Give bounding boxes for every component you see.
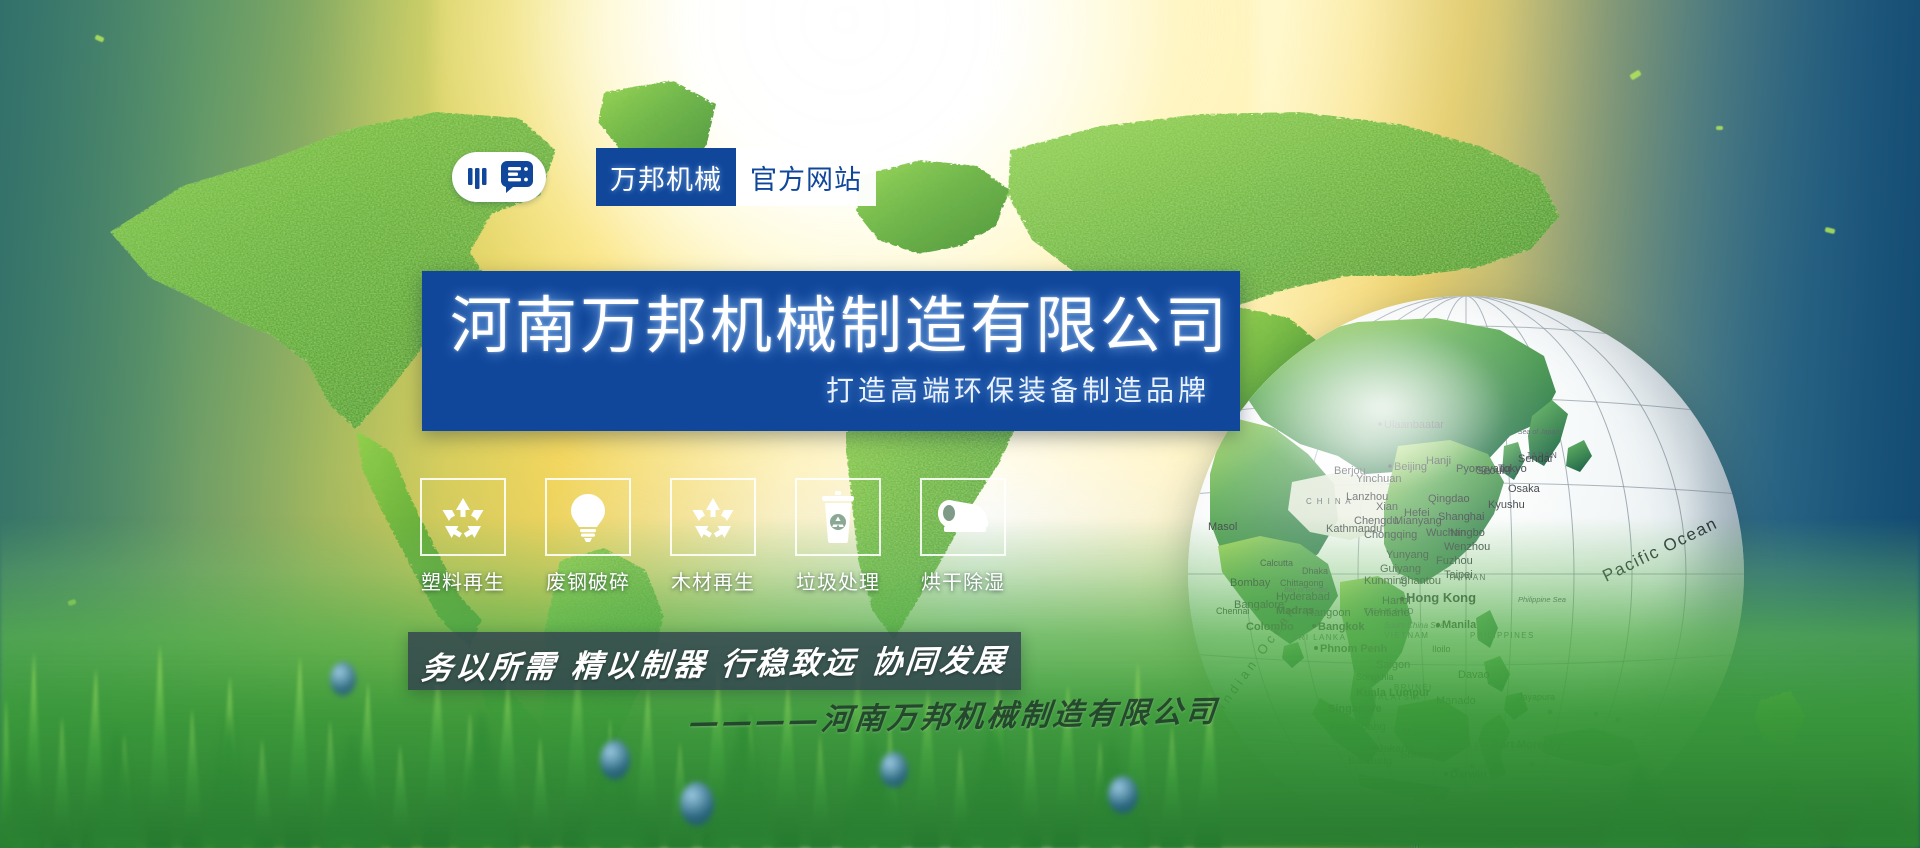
- wb-monogram-logo-icon[interactable]: [452, 152, 546, 202]
- service-label: 垃圾处理: [795, 566, 881, 595]
- official-site-badge[interactable]: 官方网站: [736, 148, 876, 206]
- service-label: 木材再生: [670, 566, 756, 595]
- slogan-bar: 务以所需 精以制器 行稳致远 协同发展: [408, 632, 1021, 690]
- service-icon-frame[interactable]: [420, 478, 506, 556]
- service-icon-frame[interactable]: [795, 478, 881, 556]
- dew-drop: [1108, 776, 1138, 814]
- dryer-blower-icon: [936, 498, 990, 536]
- trash-bin-icon: [818, 491, 858, 543]
- service-label: 塑料再生: [420, 566, 506, 595]
- recycle-icon: [439, 493, 487, 541]
- svg-text:Qingdao: Qingdao: [1428, 493, 1470, 505]
- recycle-icon: [689, 493, 737, 541]
- dew-drop: [330, 662, 356, 696]
- dew-drop: [880, 752, 908, 788]
- dew-drop: [600, 740, 630, 780]
- service-item-wood-recycling[interactable]: 木材再生: [670, 478, 756, 595]
- service-icon-frame[interactable]: [670, 478, 756, 556]
- service-item-drying-dehumidification[interactable]: 烘干除湿: [920, 478, 1006, 595]
- svg-text:Sea of Japan: Sea of Japan: [1518, 429, 1559, 436]
- service-label: 废钢破碎: [545, 566, 631, 595]
- title-panel: 河南万邦机械制造有限公司 打造高端环保装备制造品牌: [422, 271, 1240, 431]
- company-name: 河南万邦机械制造有限公司: [450, 293, 1210, 358]
- dew-drop: [680, 782, 714, 826]
- svg-text:Sendai: Sendai: [1518, 453, 1552, 465]
- service-item-scrap-steel-crushing[interactable]: 废钢破碎: [545, 478, 631, 595]
- lightbulb-icon: [565, 492, 611, 542]
- hero-banner: Pacific Ocean Indian Ocean South China S…: [0, 0, 1920, 848]
- leaf-speck: [1716, 126, 1723, 130]
- globe-highlight: [1255, 324, 1511, 491]
- company-tagline: 打造高端环保装备制造品牌: [450, 369, 1210, 409]
- service-item-waste-treatment[interactable]: 垃圾处理: [795, 478, 881, 595]
- svg-text:Osaka: Osaka: [1508, 483, 1541, 495]
- service-icon-row: 塑料再生 废钢破碎: [420, 478, 1006, 595]
- svg-text:Xian: Xian: [1376, 501, 1398, 513]
- brand-name-badge[interactable]: 万邦机械: [596, 148, 736, 206]
- logo-bar[interactable]: 万邦机械 官方网站: [452, 148, 876, 206]
- svg-text:Kyushu: Kyushu: [1488, 499, 1525, 511]
- service-item-plastic-recycling[interactable]: 塑料再生: [420, 478, 506, 595]
- service-label: 烘干除湿: [920, 566, 1006, 595]
- service-icon-frame[interactable]: [920, 478, 1006, 556]
- slogan-text: 务以所需 精以制器 行稳致远 协同发展: [419, 634, 1009, 687]
- service-icon-frame[interactable]: [545, 478, 631, 556]
